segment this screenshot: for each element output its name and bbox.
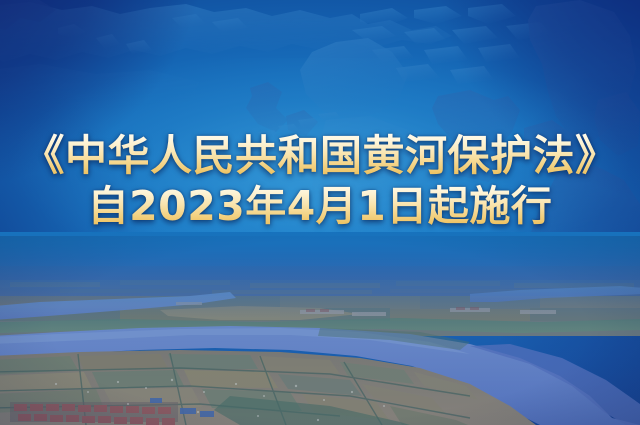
- banner-image: 《中华人民共和国黄河保护法》 自2023年4月1日起施行: [0, 0, 640, 425]
- aerial-river-photograph: [0, 236, 640, 425]
